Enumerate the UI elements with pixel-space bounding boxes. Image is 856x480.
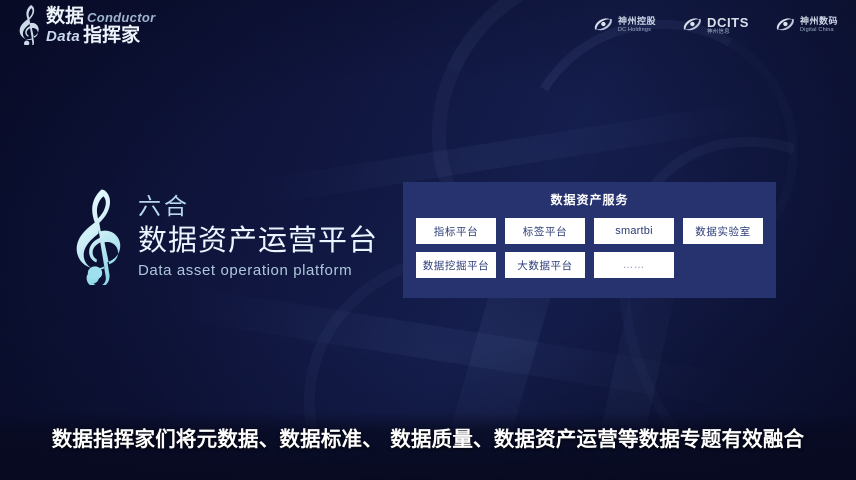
brand-logo: 数据 Conductor Data 指挥家	[16, 3, 155, 50]
partner-name-cn: DCITS	[707, 16, 749, 30]
partner-logo-dc-holdings: 神州控股 DC Holdings	[593, 16, 656, 37]
brand-line2-en: Data	[46, 29, 80, 44]
brand-line1-cn: 数据	[46, 7, 84, 26]
partner-logo-digital-china: 神州数码 Digital China	[775, 16, 838, 37]
data-asset-service-panel: 数据资产服务 指标平台 标签平台 smartbi 数据实验室 数据挖掘平台 大数…	[403, 182, 776, 298]
service-tile-smartbi[interactable]: smartbi	[594, 218, 674, 244]
brand-line1-en: Conductor	[87, 11, 155, 24]
partner-name-en: 神州信息	[707, 30, 749, 36]
slide-canvas: 数据 Conductor Data 指挥家	[0, 0, 856, 480]
panel-tile-grid: 指标平台 标签平台 smartbi 数据实验室 数据挖掘平台 大数据平台 ……	[416, 218, 763, 278]
brand-line2-cn: 指挥家	[83, 26, 140, 45]
caption-text: 数据指挥家们将元数据、数据标准、 数据质量、数据资产运营等数据专题有效融合	[0, 422, 856, 452]
hero-subtitle: 六合	[138, 194, 378, 222]
brand-wordmark: 数据 Conductor Data 指挥家	[46, 7, 155, 45]
panel-title: 数据资产服务	[416, 191, 763, 208]
hero-title-block: 六合 数据资产运营平台 Data asset operation platfor…	[72, 183, 378, 290]
partner-name-en: DC Holdings	[618, 28, 656, 34]
partner-logo-group: 神州控股 DC Holdings DCITS 神州信息	[593, 16, 842, 37]
service-tile-data-lab[interactable]: 数据实验室	[683, 218, 763, 244]
partner-logo-dcits: DCITS 神州信息	[682, 16, 749, 37]
swirl-logo-icon	[682, 16, 703, 37]
service-tile-metrics-platform[interactable]: 指标平台	[416, 218, 496, 244]
service-tile-placeholder	[683, 252, 763, 278]
top-bar: 数据 Conductor Data 指挥家	[0, 0, 856, 52]
treble-clef-icon	[72, 185, 124, 290]
swirl-logo-icon	[775, 16, 796, 37]
swirl-logo-icon	[593, 16, 614, 37]
service-tile-big-data-platform[interactable]: 大数据平台	[505, 252, 585, 278]
hero-text: 六合 数据资产运营平台 Data asset operation platfor…	[138, 194, 378, 280]
treble-clef-icon	[16, 3, 42, 50]
service-tile-data-mining[interactable]: 数据挖掘平台	[416, 252, 496, 278]
hero-english-title: Data asset operation platform	[138, 262, 378, 279]
partner-name-en: Digital China	[800, 28, 838, 34]
service-tile-more[interactable]: ……	[594, 252, 674, 278]
hero-main-title: 数据资产运营平台	[138, 222, 378, 258]
service-tile-tag-platform[interactable]: 标签平台	[505, 218, 585, 244]
